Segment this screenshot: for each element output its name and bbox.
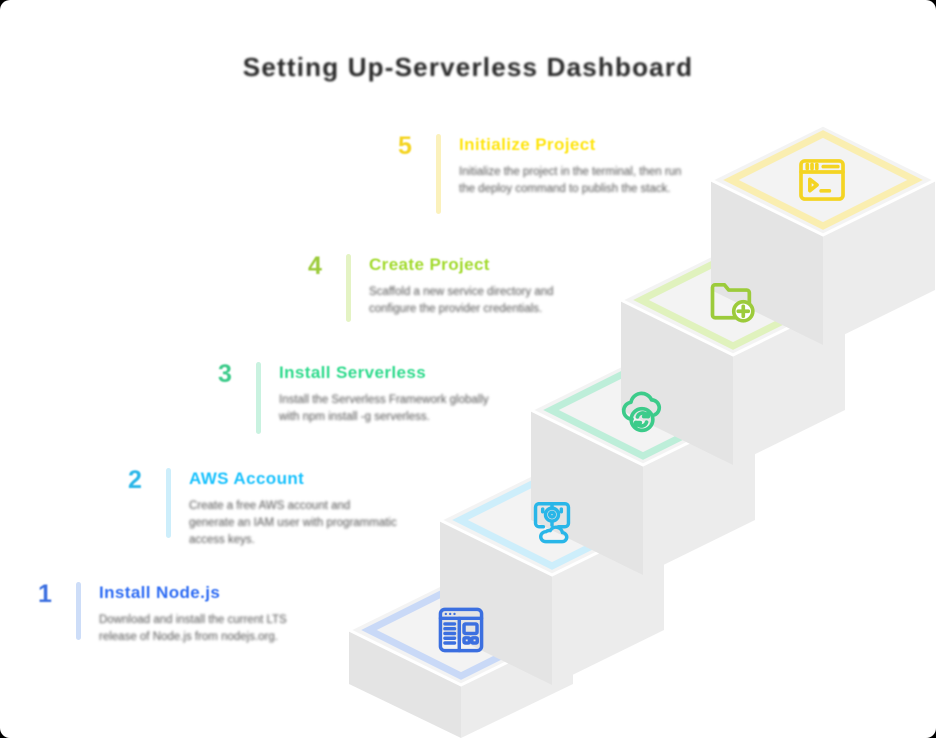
step-accent-bar-4 xyxy=(346,254,351,322)
step-number-3: 3 xyxy=(208,362,242,387)
step-item-5[interactable]: 5 Initialize Project Initialize the proj… xyxy=(388,134,694,214)
step-item-2[interactable]: 2 AWS Account Create a free AWS account … xyxy=(118,468,397,549)
step-item-4[interactable]: 4 Create Project Scaffold a new service … xyxy=(298,254,604,322)
step-title-1: Install Node.js xyxy=(99,583,304,603)
step-accent-bar-5 xyxy=(436,134,441,214)
step-item-1[interactable]: 1 Install Node.js Download and install t… xyxy=(28,582,304,646)
step-title-3: Install Serverless xyxy=(279,363,511,383)
step-description-4: Scaffold a new service directory and con… xyxy=(369,284,604,318)
step-item-3[interactable]: 3 Install Serverless Install the Serverl… xyxy=(208,362,511,434)
step-number-5: 5 xyxy=(388,134,422,159)
step-title-2: AWS Account xyxy=(189,469,397,489)
folder-add-icon xyxy=(700,268,764,332)
step-accent-bar-2 xyxy=(166,468,171,538)
step-title-4: Create Project xyxy=(369,255,604,275)
step-accent-bar-3 xyxy=(256,362,261,434)
code-browser-window-icon xyxy=(429,598,493,662)
cloud-sync-icon xyxy=(610,378,674,442)
step-title-5: Initialize Project xyxy=(459,135,694,155)
step-number-4: 4 xyxy=(298,254,332,279)
infographic-canvas: Setting Up-Serverless Dashboard xyxy=(0,0,936,738)
step-number-1: 1 xyxy=(28,582,62,607)
step-description-5: Initialize the project in the terminal, … xyxy=(459,164,694,198)
step-number-2: 2 xyxy=(118,468,152,493)
terminal-window-icon xyxy=(790,148,854,212)
cloud-settings-icon xyxy=(520,488,584,552)
step-description-1: Download and install the current LTS rel… xyxy=(99,612,304,646)
step-accent-bar-1 xyxy=(76,582,81,640)
step-description-2: Create a free AWS account and generate a… xyxy=(189,498,397,549)
step-description-3: Install the Serverless Framework globall… xyxy=(279,392,511,426)
